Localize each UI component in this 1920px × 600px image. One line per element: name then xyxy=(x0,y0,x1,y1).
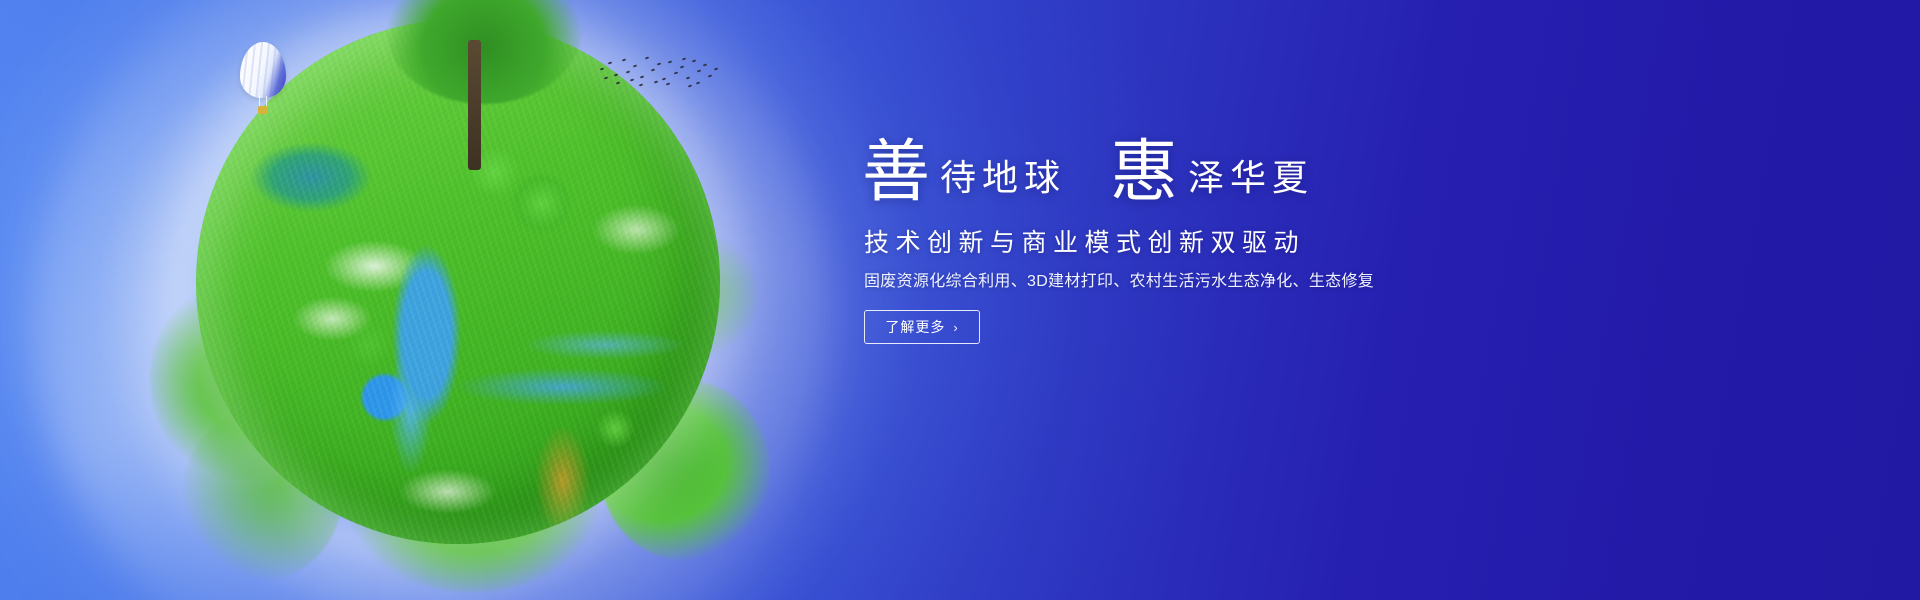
bird-icon xyxy=(654,80,658,83)
bird-icon xyxy=(703,63,707,66)
hero-banner: 善 待地球 惠 泽华夏 技术创新与商业模式创新双驱动 固废资源化综合利用、3D建… xyxy=(0,0,1920,600)
banner-subtitle: 技术创新与商业模式创新双驱动 xyxy=(864,228,1305,258)
bird-icon xyxy=(686,76,690,79)
bird-icon xyxy=(616,81,620,84)
balloon-basket xyxy=(258,106,268,114)
bird-icon xyxy=(688,84,692,87)
balloon-stripes xyxy=(240,42,286,98)
banner-description: 固废资源化综合利用、3D建材打印、农村生活污水生态净化、生态修复 xyxy=(864,272,1374,293)
bird-icon xyxy=(682,57,686,60)
bird-icon xyxy=(714,67,718,70)
bird-icon xyxy=(692,59,696,62)
bird-icon xyxy=(633,64,637,67)
bird-icon xyxy=(708,74,712,77)
banner-content: 善 待地球 惠 泽华夏 技术创新与商业模式创新双驱动 固废资源化综合利用、3D建… xyxy=(862,0,1920,600)
bird-icon xyxy=(696,81,700,84)
learn-more-label: 了解更多 xyxy=(885,317,945,337)
bird-icon xyxy=(639,83,643,86)
hot-air-balloon-icon xyxy=(240,42,286,116)
page-title: 善 待地球 惠 泽华夏 xyxy=(862,134,1314,202)
bird-icon xyxy=(614,73,618,76)
bird-icon xyxy=(604,76,608,79)
balloon-envelope xyxy=(240,42,286,98)
bird-icon xyxy=(666,82,670,85)
bird-icon xyxy=(640,75,644,78)
bird-icon xyxy=(674,71,678,74)
tree-trunk-icon xyxy=(468,40,481,170)
chevron-right-icon: › xyxy=(953,321,958,334)
bird-icon xyxy=(630,78,634,81)
headline-text-1: 待地球 xyxy=(930,160,1066,196)
learn-more-button[interactable]: 了解更多 › xyxy=(864,310,980,344)
headline-char-2: 惠 xyxy=(1110,138,1178,206)
bird-icon xyxy=(645,56,649,59)
headline-char-1: 善 xyxy=(862,138,930,206)
bird-icon xyxy=(668,60,672,63)
bird-icon xyxy=(662,77,666,80)
bird-flock-icon xyxy=(596,52,720,92)
bird-icon xyxy=(651,68,655,71)
bird-icon xyxy=(626,70,630,73)
bird-icon xyxy=(680,65,684,68)
bird-icon xyxy=(657,62,661,65)
bird-icon xyxy=(608,61,612,64)
bird-icon xyxy=(697,69,701,72)
bird-icon xyxy=(600,67,604,70)
headline-text-2: 泽华夏 xyxy=(1178,160,1314,196)
bird-icon xyxy=(622,58,626,61)
